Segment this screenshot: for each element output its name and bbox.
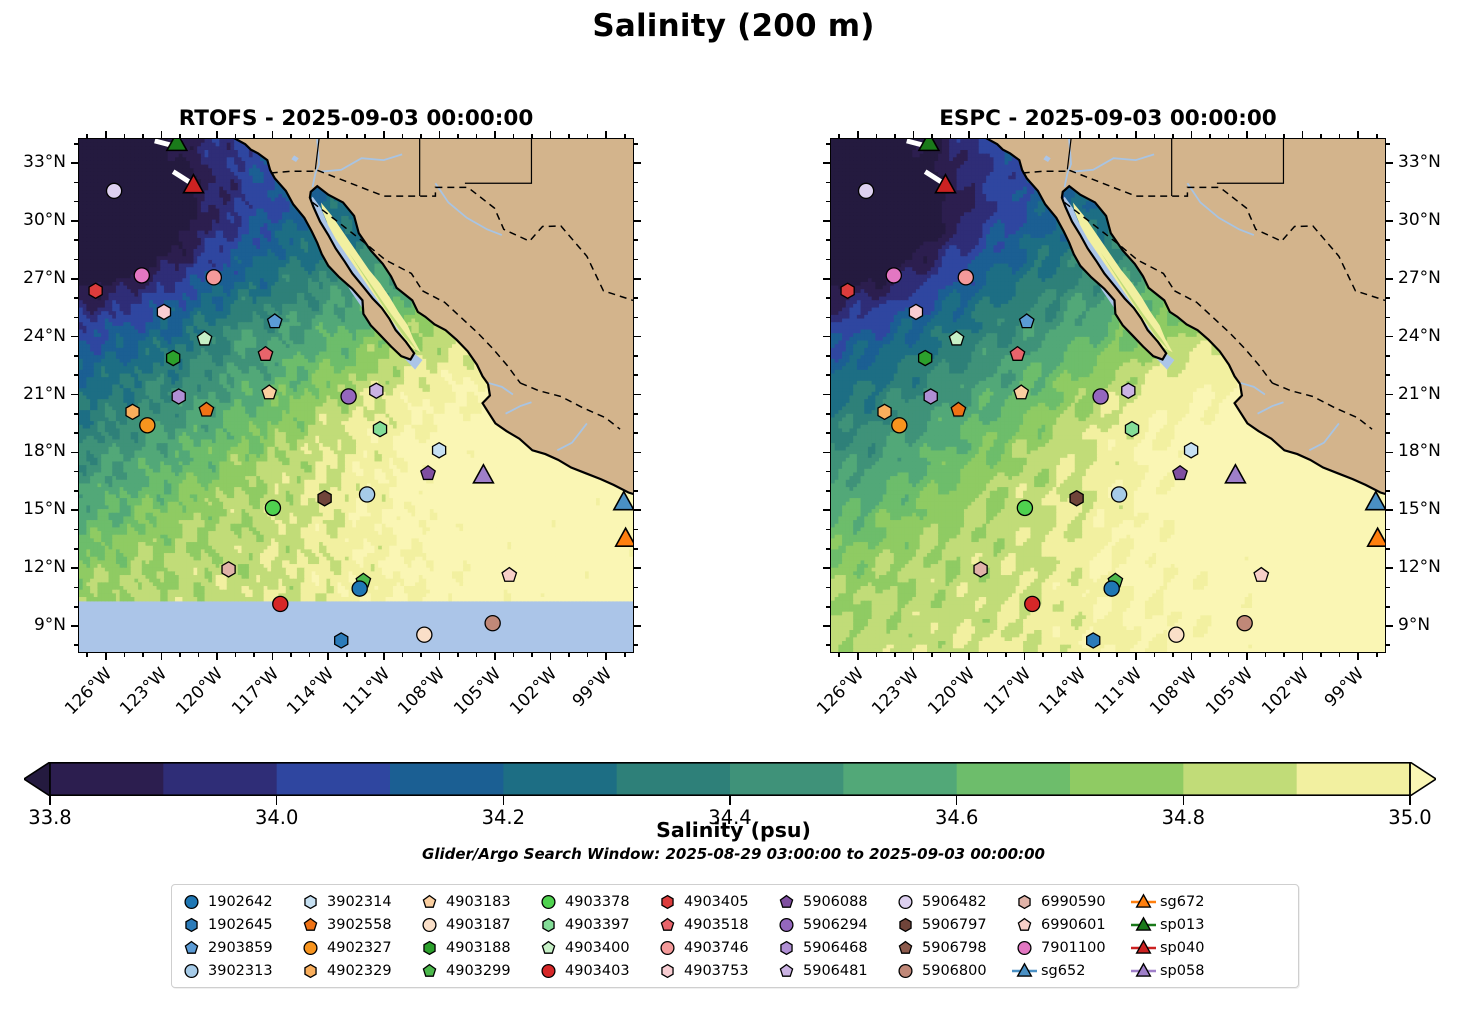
legend-float-entry[interactable]: 5906088 <box>773 890 892 913</box>
x-axis-tick <box>1135 653 1137 660</box>
x-axis-tick-top <box>494 131 496 138</box>
x-axis-tick <box>913 653 915 660</box>
y-axis-tick-label-right: 9°N <box>1398 615 1467 635</box>
y-axis-minor-tick <box>826 529 830 531</box>
x-axis-tick-label: 123°W <box>117 664 172 719</box>
salinity-field-espc <box>831 139 1385 652</box>
colorbar-title: Salinity (psu) <box>0 818 1467 842</box>
y-axis-minor-tick-right <box>1386 529 1390 531</box>
legend-float-entry[interactable]: 5906482 <box>892 890 1011 913</box>
pentagon-marker-icon <box>178 938 205 958</box>
x-axis-minor-tick <box>531 653 533 657</box>
x-axis-tick-top <box>272 131 274 138</box>
y-axis-minor-tick-right <box>634 606 638 608</box>
x-axis-minor-tick <box>1209 134 1211 138</box>
y-axis-tick-right <box>634 452 641 454</box>
y-axis-minor-tick-right <box>1386 239 1390 241</box>
legend-label: 5906797 <box>919 917 987 933</box>
y-axis-minor-tick <box>74 182 78 184</box>
legend-float-entry[interactable]: 3902313 <box>178 959 297 982</box>
argo-float-marker[interactable] <box>352 581 367 596</box>
y-axis-minor-tick-right <box>634 529 638 531</box>
argo-float-marker[interactable] <box>318 491 331 506</box>
panel-title-espc: ESPC - 2025-09-03 00:00:00 <box>830 106 1386 131</box>
x-axis-tick <box>1357 653 1359 660</box>
x-axis-tick-top <box>1024 131 1026 138</box>
y-axis-tick-label-right: 30°N <box>1398 210 1467 230</box>
y-axis-tick <box>823 567 830 569</box>
x-axis-minor-tick <box>124 653 126 657</box>
x-axis-minor-tick <box>476 134 478 138</box>
circle-marker-icon <box>178 892 205 912</box>
legend-label: 4903518 <box>681 917 749 933</box>
x-axis-tick-top <box>550 131 552 138</box>
y-axis-tick-label: 9°N <box>0 615 66 635</box>
y-axis-minor-tick-right <box>634 182 638 184</box>
circle-marker-icon <box>892 892 919 912</box>
y-axis-minor-tick-right <box>1386 490 1390 492</box>
x-axis-minor-tick <box>179 134 181 138</box>
y-axis-tick-right <box>1386 394 1393 396</box>
y-axis-minor-tick-right <box>1386 297 1390 299</box>
x-axis-tick <box>161 653 163 660</box>
x-axis-minor-tick <box>1116 653 1118 657</box>
legend-label: 5906088 <box>800 894 868 910</box>
argo-float-marker[interactable] <box>485 616 500 631</box>
y-axis-tick <box>823 278 830 280</box>
y-axis-tick-right <box>1386 336 1393 338</box>
legend-float-entry[interactable]: 5906797 <box>892 913 1011 936</box>
x-axis-minor-tick <box>1005 134 1007 138</box>
argo-float-marker[interactable] <box>1237 616 1252 631</box>
x-axis-tick-top <box>383 131 385 138</box>
x-axis-minor-tick <box>931 653 933 657</box>
argo-float-marker[interactable] <box>107 183 122 198</box>
argo-float-marker[interactable] <box>909 304 922 319</box>
legend-float-entry[interactable]: 6990601 <box>1011 913 1130 936</box>
x-axis-tick-label: 99°W <box>569 664 616 711</box>
argo-float-marker[interactable] <box>1025 596 1040 611</box>
x-axis-minor-tick <box>420 134 422 138</box>
legend-label: 4902327 <box>324 940 392 956</box>
x-axis-minor-tick <box>309 653 311 657</box>
x-axis-tick-top <box>1079 131 1081 138</box>
circle-marker-icon <box>416 915 443 935</box>
legend-column: 3902314390255849023274902329 <box>297 890 416 982</box>
legend-label: sp058 <box>1157 963 1204 979</box>
x-axis-tick-label: 120°W <box>924 664 979 719</box>
x-axis-minor-tick <box>624 653 626 657</box>
y-axis-tick <box>71 452 78 454</box>
x-axis-tick <box>1302 653 1304 660</box>
x-axis-minor-tick <box>894 134 896 138</box>
pentagon-marker-icon <box>773 961 800 981</box>
y-axis-tick-right <box>1386 452 1393 454</box>
y-axis-minor-tick-right <box>1386 182 1390 184</box>
x-axis-minor-tick <box>402 134 404 138</box>
argo-float-marker[interactable] <box>1125 422 1138 437</box>
y-axis-minor-tick-right <box>1386 374 1390 376</box>
y-axis-tick <box>823 452 830 454</box>
y-axis-tick-label: 12°N <box>0 557 66 577</box>
x-axis-minor-tick <box>1283 134 1285 138</box>
argo-float-marker[interactable] <box>878 404 891 419</box>
y-axis-minor-tick <box>74 529 78 531</box>
map-panel-espc[interactable] <box>830 138 1386 653</box>
x-axis-minor-tick <box>931 134 933 138</box>
argo-float-marker[interactable] <box>924 389 937 404</box>
legend-float-entry[interactable]: 5906468 <box>773 936 892 959</box>
x-axis-minor-tick <box>1005 653 1007 657</box>
x-axis-tick <box>550 653 552 660</box>
pentagon-marker-icon <box>535 938 562 958</box>
argo-float-marker[interactable] <box>974 562 987 577</box>
x-axis-minor-tick <box>513 653 515 657</box>
y-axis-minor-tick-right <box>1386 471 1390 473</box>
argo-float-marker[interactable] <box>222 562 235 577</box>
x-axis-minor-tick <box>568 134 570 138</box>
argo-float-marker[interactable] <box>157 304 170 319</box>
y-axis-minor-tick <box>826 471 830 473</box>
y-axis-minor-tick-right <box>634 548 638 550</box>
x-axis-minor-tick <box>402 653 404 657</box>
glider-triangle-icon <box>1011 961 1038 981</box>
y-axis-tick-right <box>634 162 641 164</box>
y-axis-minor-tick <box>74 317 78 319</box>
circle-marker-icon <box>535 961 562 981</box>
y-axis-minor-tick-right <box>634 644 638 646</box>
argo-float-marker[interactable] <box>126 404 139 419</box>
x-axis-tick <box>494 653 496 660</box>
x-axis-minor-tick <box>290 653 292 657</box>
x-axis-tick-top <box>327 131 329 138</box>
legend-float-entry[interactable]: 4903518 <box>654 913 773 936</box>
y-axis-tick-right <box>1386 567 1393 569</box>
x-axis-tick-label: 117°W <box>980 664 1035 719</box>
argo-float-marker[interactable] <box>273 596 288 611</box>
x-axis-minor-tick <box>346 653 348 657</box>
hexagon-marker-icon <box>654 961 681 981</box>
legend-label: 5906481 <box>800 963 868 979</box>
hexagon-marker-icon <box>1011 892 1038 912</box>
legend-label: 3902558 <box>324 917 392 933</box>
x-axis-minor-tick <box>235 134 237 138</box>
circle-marker-icon <box>535 892 562 912</box>
x-axis-minor-tick <box>1228 134 1230 138</box>
x-axis-minor-tick <box>1209 653 1211 657</box>
map-panel-rtofs[interactable] <box>78 138 634 653</box>
x-axis-minor-tick <box>1320 653 1322 657</box>
legend-float-entry[interactable]: 4903188 <box>416 936 535 959</box>
argo-float-marker[interactable] <box>892 418 907 433</box>
argo-float-marker[interactable] <box>417 627 432 642</box>
hexagon-marker-icon <box>654 892 681 912</box>
y-axis-minor-tick-right <box>634 374 638 376</box>
x-axis-tick-label: 108°W <box>395 664 450 719</box>
y-axis-minor-tick <box>74 644 78 646</box>
x-axis-minor-tick <box>142 653 144 657</box>
argo-float-marker[interactable] <box>1185 443 1198 458</box>
search-window-caption: Glider/Argo Search Window: 2025-08-29 03… <box>0 845 1467 863</box>
argo-float-marker[interactable] <box>1169 627 1184 642</box>
legend-glider-entry[interactable]: sp013 <box>1130 913 1237 936</box>
x-axis-minor-tick <box>142 134 144 138</box>
y-axis-minor-tick <box>826 317 830 319</box>
y-axis-minor-tick-right <box>634 297 638 299</box>
legend-label: 4903400 <box>562 940 630 956</box>
argo-float-marker[interactable] <box>89 283 102 298</box>
legend-float-entry[interactable]: 4903403 <box>535 959 654 982</box>
legend-label: 4903397 <box>562 917 630 933</box>
y-axis-minor-tick <box>826 182 830 184</box>
legend-float-entry[interactable]: 4903746 <box>654 936 773 959</box>
argo-float-marker[interactable] <box>1087 633 1100 648</box>
legend-float-entry[interactable]: 4902327 <box>297 936 416 959</box>
y-axis-minor-tick-right <box>634 587 638 589</box>
argo-float-marker[interactable] <box>265 500 280 515</box>
legend-label: 4903299 <box>443 963 511 979</box>
legend-float-entry[interactable]: 3902558 <box>297 913 416 936</box>
x-axis-minor-tick <box>476 653 478 657</box>
legend-float-entry[interactable]: 5906800 <box>892 959 1011 982</box>
hexagon-marker-icon <box>773 938 800 958</box>
legend-label: 4903746 <box>681 940 749 956</box>
y-axis-tick-label-right: 15°N <box>1398 499 1467 519</box>
x-axis-tick-top <box>161 131 163 138</box>
y-axis-minor-tick-right <box>634 143 638 145</box>
y-axis-minor-tick <box>74 548 78 550</box>
pentagon-marker-icon <box>1011 915 1038 935</box>
argo-float-marker[interactable] <box>958 270 973 285</box>
x-axis-minor-tick <box>253 653 255 657</box>
legend-float-entry[interactable]: 4903397 <box>535 913 654 936</box>
x-axis-minor-tick <box>950 653 952 657</box>
y-axis-minor-tick <box>74 355 78 357</box>
x-axis-tick-top <box>439 131 441 138</box>
y-axis-tick-right <box>634 394 641 396</box>
y-axis-minor-tick <box>826 297 830 299</box>
x-axis-tick <box>383 653 385 660</box>
y-axis-tick-right <box>1386 162 1393 164</box>
y-axis-tick-label: 33°N <box>0 152 66 172</box>
x-axis-tick-top <box>1302 131 1304 138</box>
colorbar-tick <box>1409 796 1411 805</box>
argo-float-marker[interactable] <box>1122 383 1135 398</box>
glider-triangle-icon <box>1130 961 1157 981</box>
argo-float-marker[interactable] <box>370 383 383 398</box>
y-axis-tick-label-right: 12°N <box>1398 557 1467 577</box>
legend-float-entry[interactable]: 5906294 <box>773 913 892 936</box>
legend-label: 7901100 <box>1038 940 1106 956</box>
colorbar-tick <box>276 796 278 805</box>
y-axis-minor-tick <box>74 413 78 415</box>
y-axis-tick-label-right: 33°N <box>1398 152 1467 172</box>
x-axis-tick-label: 126°W <box>61 664 116 719</box>
colorbar-tick <box>49 796 51 805</box>
pentagon-marker-icon <box>654 915 681 935</box>
x-axis-tick <box>857 653 859 660</box>
x-axis-minor-tick <box>1265 653 1267 657</box>
legend-float-entry[interactable]: 1902642 <box>178 890 297 913</box>
legend-label: 5906800 <box>919 963 987 979</box>
y-axis-minor-tick-right <box>1386 413 1390 415</box>
legend-float-entry[interactable]: 4903753 <box>654 959 773 982</box>
x-axis-tick <box>327 653 329 660</box>
y-axis-tick <box>71 394 78 396</box>
argo-float-marker[interactable] <box>859 183 874 198</box>
x-axis-minor-tick <box>309 134 311 138</box>
x-axis-tick <box>105 653 107 660</box>
x-axis-minor-tick <box>1339 134 1341 138</box>
legend-label: 4903405 <box>681 894 749 910</box>
y-axis-tick-right <box>634 278 641 280</box>
y-axis-tick-label: 18°N <box>0 441 66 461</box>
x-axis-tick <box>439 653 441 660</box>
argo-float-marker[interactable] <box>373 422 386 437</box>
y-axis-minor-tick <box>826 201 830 203</box>
x-axis-minor-tick <box>86 653 88 657</box>
hexagon-marker-icon <box>178 915 205 935</box>
argo-float-marker[interactable] <box>335 633 348 648</box>
argo-float-marker[interactable] <box>140 418 155 433</box>
argo-float-marker[interactable] <box>360 487 375 502</box>
argo-float-marker[interactable] <box>172 389 185 404</box>
x-axis-minor-tick <box>1172 134 1174 138</box>
legend-column: 699059069906017901100sg652 <box>1011 890 1130 982</box>
y-axis-tick-right <box>634 336 641 338</box>
y-axis-minor-tick <box>826 259 830 261</box>
legend-label: 4903188 <box>443 940 511 956</box>
legend-float-entry[interactable]: 4903405 <box>654 890 773 913</box>
x-axis-minor-tick <box>124 134 126 138</box>
x-axis-tick <box>272 653 274 660</box>
pentagon-marker-icon <box>416 892 443 912</box>
argo-float-marker[interactable] <box>919 350 932 365</box>
colorbar-tick <box>729 796 731 805</box>
y-axis-tick <box>823 162 830 164</box>
x-axis-tick-top <box>605 131 607 138</box>
x-axis-tick-label: 123°W <box>869 664 924 719</box>
argo-float-marker[interactable] <box>1093 389 1108 404</box>
argo-float-marker[interactable] <box>886 268 901 283</box>
x-axis-tick-top <box>1357 131 1359 138</box>
x-axis-tick <box>1191 653 1193 660</box>
y-axis-minor-tick <box>826 432 830 434</box>
x-axis-tick-label: 102°W <box>1258 664 1313 719</box>
y-axis-minor-tick <box>74 201 78 203</box>
legend-float-entry[interactable]: 5906481 <box>773 959 892 982</box>
legend-float-entry[interactable]: 4903187 <box>416 913 535 936</box>
legend-float-entry[interactable]: 4903183 <box>416 890 535 913</box>
y-axis-minor-tick-right <box>634 432 638 434</box>
x-axis-minor-tick <box>531 134 533 138</box>
legend-float-entry[interactable]: 4903400 <box>535 936 654 959</box>
x-axis-minor-tick <box>364 134 366 138</box>
x-axis-minor-tick <box>1098 134 1100 138</box>
argo-float-marker[interactable] <box>1104 581 1119 596</box>
y-axis-tick-right <box>634 509 641 511</box>
y-axis-tick <box>823 220 830 222</box>
legend-label: sp040 <box>1157 940 1204 956</box>
argo-float-marker[interactable] <box>1112 487 1127 502</box>
y-axis-tick-right <box>634 625 641 627</box>
y-axis-minor-tick <box>826 644 830 646</box>
x-axis-tick-label: 120°W <box>172 664 227 719</box>
x-axis-tick <box>1079 653 1081 660</box>
legend-float-entry[interactable]: 7901100 <box>1011 936 1130 959</box>
hexagon-marker-icon <box>892 915 919 935</box>
y-axis-minor-tick-right <box>1386 587 1390 589</box>
x-axis-minor-tick <box>876 653 878 657</box>
legend-float-entry[interactable]: 1902645 <box>178 913 297 936</box>
legend-glider-entry[interactable]: sp040 <box>1130 936 1237 959</box>
x-axis-tick-label: 105°W <box>1202 664 1257 719</box>
x-axis-minor-tick <box>346 134 348 138</box>
y-axis-tick <box>823 509 830 511</box>
legend-float-entry[interactable]: 4903299 <box>416 959 535 982</box>
y-axis-minor-tick <box>826 355 830 357</box>
legend-float-entry[interactable]: 5906798 <box>892 936 1011 959</box>
y-axis-minor-tick <box>74 259 78 261</box>
y-axis-minor-tick <box>74 606 78 608</box>
pentagon-marker-icon <box>892 938 919 958</box>
legend-glider-entry[interactable]: sp058 <box>1130 959 1237 982</box>
legend-column: 4903405490351849037464903753 <box>654 890 773 982</box>
legend-float-entry[interactable]: 4903378 <box>535 890 654 913</box>
legend-glider-entry[interactable]: sg672 <box>1130 890 1237 913</box>
x-axis-minor-tick <box>1376 134 1378 138</box>
salinity-field-rtofs <box>79 139 633 652</box>
y-axis-minor-tick <box>826 143 830 145</box>
argo-float-marker[interactable] <box>433 443 446 458</box>
legend-float-entry[interactable]: 2903859 <box>178 936 297 959</box>
legend-float-entry[interactable]: 6990590 <box>1011 890 1130 913</box>
x-axis-tick-label: 108°W <box>1147 664 1202 719</box>
legend-column: 5906088590629459064685906481 <box>773 890 892 982</box>
argo-float-marker[interactable] <box>1017 500 1032 515</box>
x-axis-minor-tick <box>987 134 989 138</box>
legend-column: sg672sp013sp040sp058 <box>1130 890 1237 982</box>
legend-float-entry[interactable]: 4902329 <box>297 959 416 982</box>
glider-triangle-icon <box>1130 892 1157 912</box>
x-axis-tick-label: 111°W <box>339 664 394 719</box>
argo-float-marker[interactable] <box>134 268 149 283</box>
glider-triangle-icon <box>1130 915 1157 935</box>
y-axis-minor-tick-right <box>634 490 638 492</box>
x-axis-tick-top <box>913 131 915 138</box>
float-glider-legend[interactable]: 1902642190264529038593902313390231439025… <box>171 884 1299 988</box>
argo-float-marker[interactable] <box>841 283 854 298</box>
x-axis-minor-tick <box>457 134 459 138</box>
legend-glider-entry[interactable]: sg652 <box>1011 959 1130 982</box>
x-axis-minor-tick <box>587 653 589 657</box>
y-axis-tick <box>823 394 830 396</box>
x-axis-minor-tick <box>987 653 989 657</box>
argo-float-marker[interactable] <box>1070 491 1083 506</box>
y-axis-minor-tick <box>74 297 78 299</box>
argo-float-marker[interactable] <box>167 350 180 365</box>
argo-float-marker[interactable] <box>206 270 221 285</box>
legend-float-entry[interactable]: 3902314 <box>297 890 416 913</box>
legend-label: sg672 <box>1157 894 1204 910</box>
x-axis-tick <box>1024 653 1026 660</box>
x-axis-minor-tick <box>364 653 366 657</box>
y-axis-minor-tick-right <box>1386 355 1390 357</box>
x-axis-minor-tick <box>894 653 896 657</box>
y-axis-tick <box>823 625 830 627</box>
y-axis-minor-tick-right <box>634 239 638 241</box>
argo-float-marker[interactable] <box>341 389 356 404</box>
